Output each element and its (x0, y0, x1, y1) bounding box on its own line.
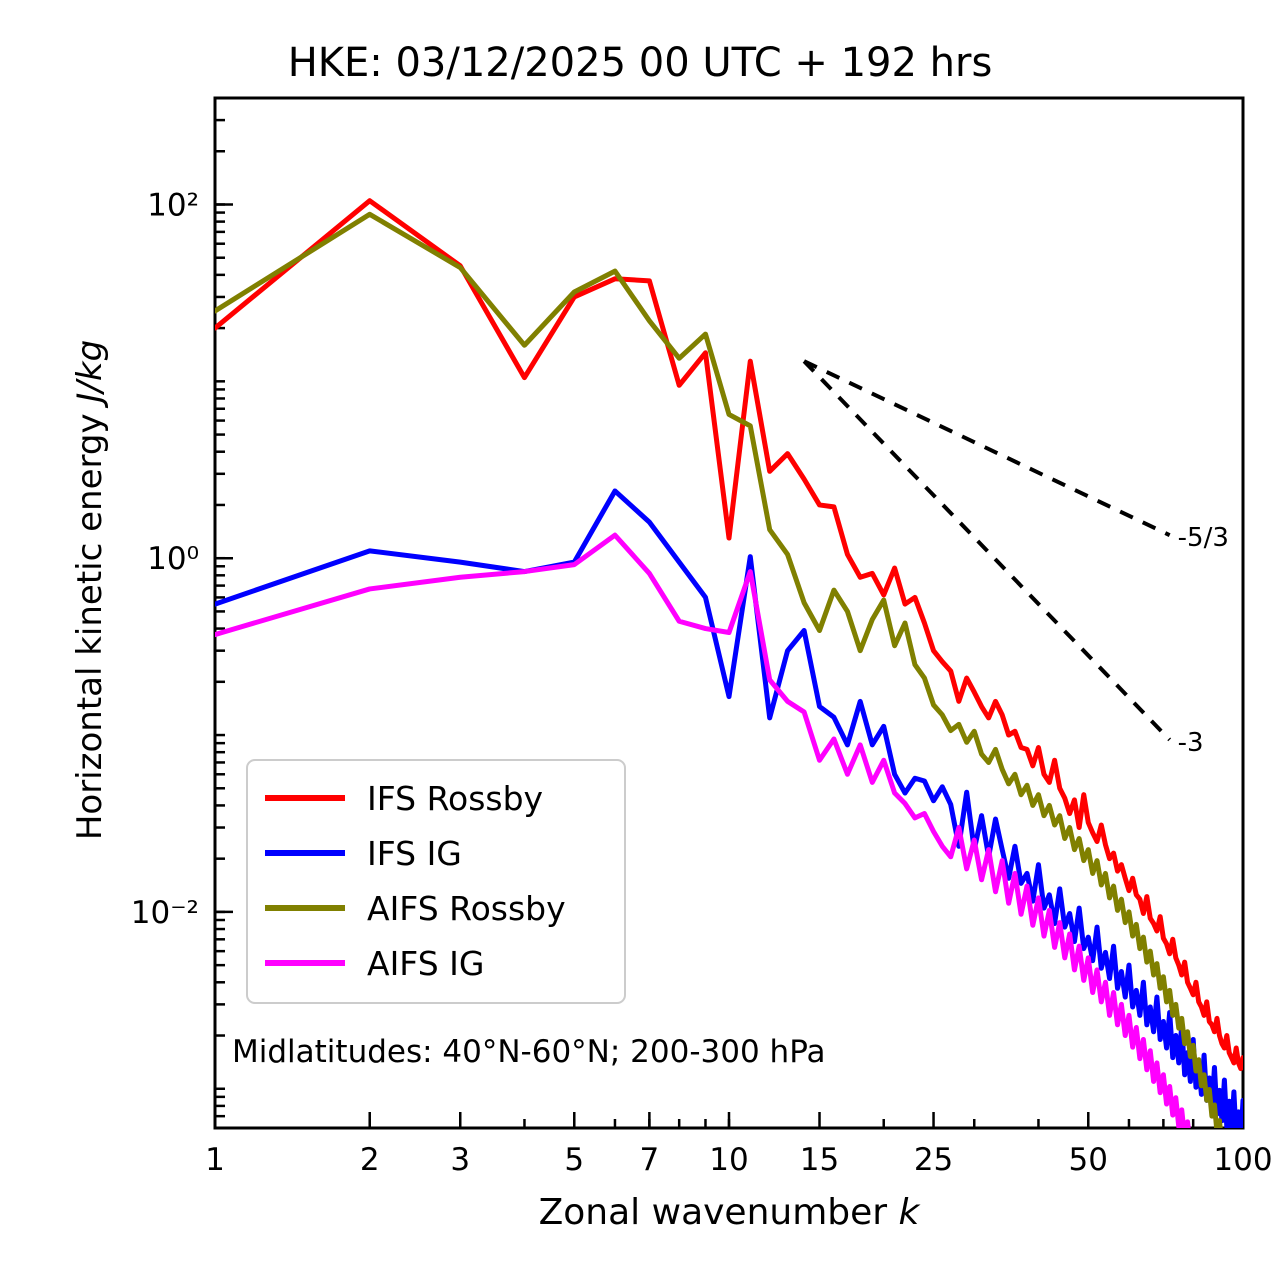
legend-label-ifs-ig: IFS IG (367, 834, 462, 873)
data-series-group (215, 201, 1243, 1252)
y-tick-label: 10² (147, 187, 199, 223)
reference-lines-group: -5/3-3 (804, 361, 1229, 758)
x-tick-label: 3 (450, 1142, 470, 1178)
y-tick-label: 10⁻² (131, 895, 199, 931)
x-tick-label: 100 (1213, 1142, 1272, 1178)
figure-container: HKE: 03/12/2025 00 UTC + 192 hrs Horizon… (0, 0, 1280, 1288)
x-tick-label: 50 (1069, 1142, 1108, 1178)
x-tick-label: 7 (640, 1142, 660, 1178)
y-tick-label: 10⁰ (147, 541, 199, 577)
region-annotation: Midlatitudes: 40°N-60°N; 200-300 hPa (232, 1034, 826, 1070)
x-tick-label: 5 (564, 1142, 584, 1178)
x-tick-label: 1 (205, 1142, 225, 1178)
legend-label-aifs-rossby: AIFS Rossby (367, 889, 566, 928)
x-tick-label: 15 (800, 1142, 839, 1178)
x-tick-label: 10 (709, 1142, 748, 1178)
legend-label-ifs-rossby: IFS Rossby (367, 779, 543, 818)
reference-line-53 (804, 361, 1170, 535)
x-tick-label: 2 (360, 1142, 380, 1178)
spectrum-plot: 123571015255010010²10⁰10⁻² -5/3-3 IFS Ro… (0, 0, 1280, 1288)
reference-line-label: -3 (1178, 728, 1204, 758)
legend: IFS RossbyIFS IGAIFS RossbyAIFS IG (247, 760, 625, 1003)
x-tick-label: 25 (914, 1142, 953, 1178)
annotation-note: Midlatitudes: 40°N-60°N; 200-300 hPa (232, 1034, 826, 1070)
reference-line-3 (804, 361, 1170, 740)
legend-label-aifs-ig: AIFS IG (367, 944, 484, 983)
reference-line-label: -5/3 (1178, 523, 1229, 553)
